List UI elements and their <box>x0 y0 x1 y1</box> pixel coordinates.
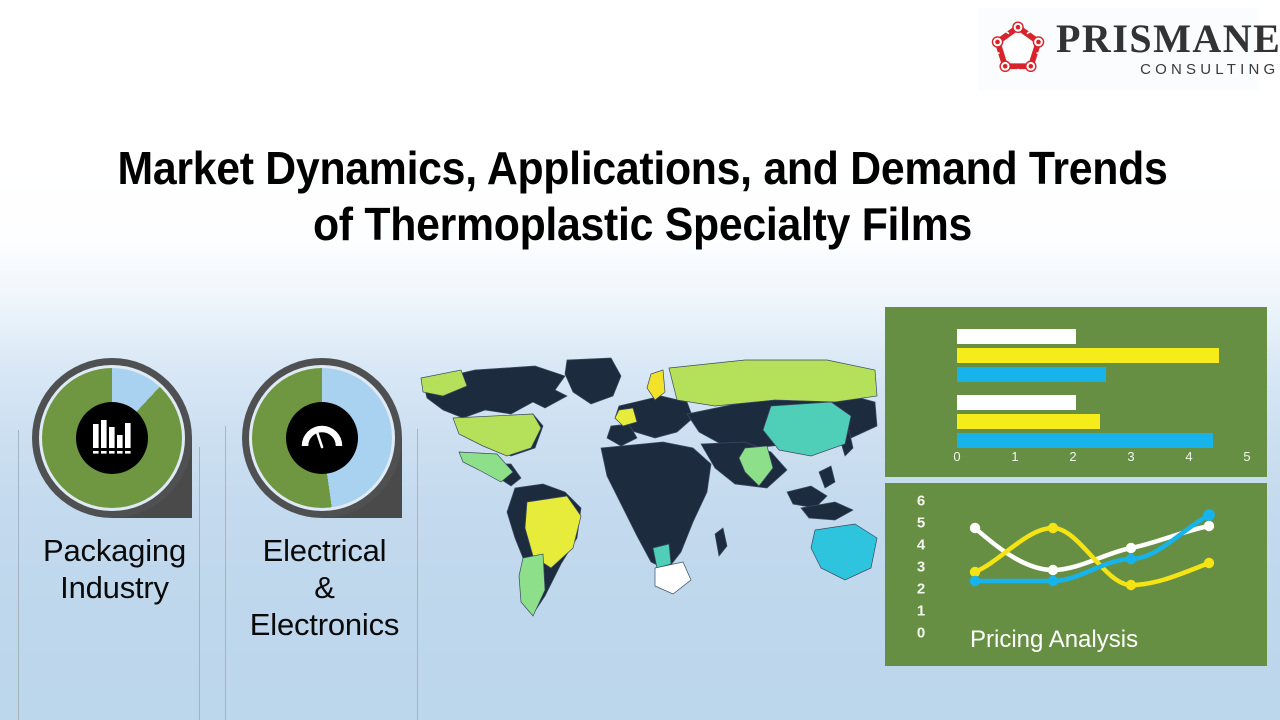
page-title-line-2: of Thermoplastic Specialty Films <box>313 198 972 250</box>
line-y-tick-1: 1 <box>917 603 925 620</box>
bar-x-tick-0: 0 <box>953 449 960 464</box>
bar-g2-yellow <box>957 414 1100 429</box>
bar-g2-white <box>957 395 1076 410</box>
bar-chart-x-axis: 0 1 2 3 4 5 <box>945 449 1259 467</box>
bar-x-tick-3: 3 <box>1127 449 1134 464</box>
pentagon-bead-logo-icon <box>986 17 1050 81</box>
divider-mid-1 <box>199 447 200 720</box>
brand-name: PRISMANE <box>1056 18 1280 60</box>
divider-left <box>18 430 19 720</box>
segment-card-electrical-electronics[interactable]: Electrical & Electronics <box>242 358 407 643</box>
bar-chart-panel[interactable]: 0 1 2 3 4 5 <box>885 307 1267 477</box>
segment-label-line-2: & <box>314 570 334 605</box>
bar-x-tick-1: 1 <box>1011 449 1018 464</box>
page-title: Market Dynamics, Applications, and Deman… <box>73 140 1212 252</box>
bar-x-tick-4: 4 <box>1185 449 1192 464</box>
line-y-tick-6: 6 <box>917 493 925 510</box>
map-region-argentina <box>519 554 545 616</box>
segment-label-line-1: Packaging <box>43 533 186 568</box>
page-title-line-1: Market Dynamics, Applications, and Deman… <box>117 142 1167 194</box>
line-y-tick-4: 4 <box>917 537 925 554</box>
bar-g1-white <box>957 329 1076 344</box>
line-y-tick-3: 3 <box>917 559 925 576</box>
segment-label-line-2: Industry <box>60 570 169 605</box>
map-region-russia <box>669 360 877 406</box>
line-y-tick-5: 5 <box>917 515 925 532</box>
map-region-france <box>615 408 637 426</box>
bar-g2-blue <box>957 433 1213 448</box>
bar-g1-blue <box>957 367 1106 382</box>
map-region-sweden <box>647 370 665 400</box>
line-y-tick-2: 2 <box>917 581 925 598</box>
segment-card-packaging[interactable]: Packaging Industry <box>32 358 197 606</box>
world-map[interactable] <box>415 352 885 642</box>
line-chart-plot <box>933 489 1263 639</box>
donut-hub <box>286 402 358 474</box>
segment-label-line-1: Electrical <box>263 533 387 568</box>
donut-chart-electrical-electronics <box>242 358 402 518</box>
gauge-icon <box>298 414 346 462</box>
map-region-australia <box>811 524 877 580</box>
bar-x-tick-2: 2 <box>1069 449 1076 464</box>
map-region-mexico <box>459 452 513 482</box>
line-y-tick-0: 0 <box>917 625 925 642</box>
segment-label-electrical-electronics: Electrical & Electronics <box>242 532 407 643</box>
line-chart-title: Pricing Analysis <box>970 626 1138 654</box>
map-region-china <box>763 402 851 456</box>
line-chart-panel[interactable]: 6 5 4 3 2 1 0 Pricing Analysis <box>885 483 1267 666</box>
segment-label-packaging: Packaging Industry <box>32 532 197 606</box>
donut-chart-packaging <box>32 358 192 518</box>
donut-hub <box>76 402 148 474</box>
divider-mid-2 <box>225 426 226 720</box>
bar-chart-icon <box>88 414 136 462</box>
bar-chart-plot <box>957 325 1255 435</box>
segment-label-line-3: Electronics <box>250 607 399 642</box>
bar-x-tick-5: 5 <box>1243 449 1250 464</box>
brand-subtitle: CONSULTING <box>1056 60 1280 80</box>
bar-g1-yellow <box>957 348 1219 363</box>
map-region-south-africa <box>655 562 691 594</box>
brand-logo: PRISMANE CONSULTING <box>978 8 1258 90</box>
